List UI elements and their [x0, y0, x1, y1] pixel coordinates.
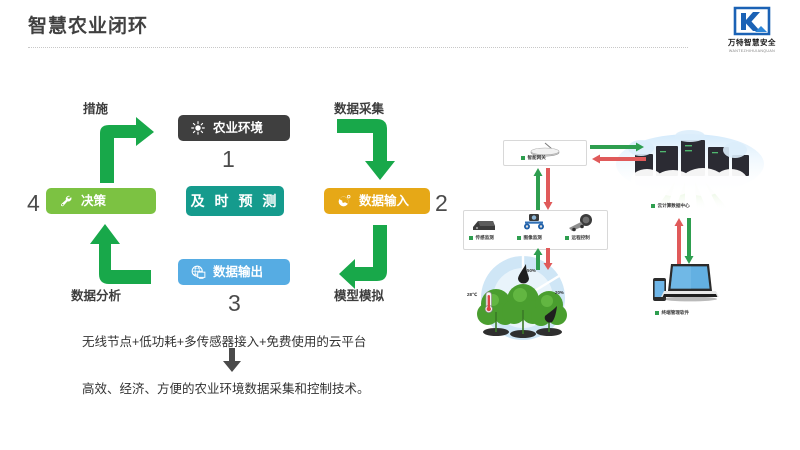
reading-light: 20% [555, 290, 564, 295]
node-timely-forecast[interactable]: 及 时 预 测 [186, 186, 284, 216]
step-number-4: 4 [27, 192, 40, 215]
label-terminal-software: 终端管理软件 [655, 310, 689, 316]
step-number-1: 1 [222, 148, 235, 171]
node-label: 决策 [81, 195, 106, 208]
terminal-devices-icon [651, 260, 721, 304]
step-number-3: 3 [228, 292, 241, 315]
page-title: 智慧农业闭环 [28, 11, 148, 38]
remote-control-device-icon [567, 213, 597, 232]
node-label: 农业环境 [213, 122, 263, 135]
label-smart-gateway: 智能网关 [521, 155, 546, 161]
statement-line-2: 高效、经济、方便的农业环境数据采集和控制技术。 [82, 378, 370, 397]
sun-icon [190, 120, 206, 136]
cycle-arrow-right-down-icon [337, 115, 399, 183]
node-label: 及 时 预 测 [191, 194, 280, 208]
satellite-dish-icon [336, 193, 352, 209]
node-label: 数据输入 [359, 195, 409, 208]
flow-cloud-terminal-arrows [674, 218, 696, 264]
crop-field-icon [463, 252, 583, 340]
label-cloud-data-center: 云计算数据中心 [651, 203, 690, 209]
node-label: 数据输出 [213, 266, 263, 279]
logo-pinyin: WANTEZHIHUIANQUAN [716, 49, 788, 53]
wante-k-logo-icon [732, 6, 772, 36]
sensor-device-icon [471, 216, 497, 232]
cycle-arrow-down-left-icon [337, 225, 399, 293]
globe-monitor-icon [190, 264, 206, 280]
image-monitoring-icon [521, 213, 547, 232]
title-divider [28, 47, 688, 48]
flow-field-device-arrows [533, 248, 555, 270]
cycle-arrow-up-right-icon [96, 115, 158, 183]
label-sensor-monitoring: 传感监测 [469, 235, 494, 241]
node-decision[interactable]: 决策 [46, 188, 156, 214]
bullet-square-icon [469, 236, 473, 240]
wrench-icon [58, 193, 74, 209]
flow-gateway-cloud-arrows [590, 142, 646, 168]
node-agriculture-environment[interactable]: 农业环境 [178, 115, 290, 141]
bullet-square-icon [651, 204, 655, 208]
bullet-square-icon [565, 236, 569, 240]
label-remote-control: 远程控制 [565, 235, 590, 241]
iot-architecture-illustration: 云计算数据中心 智能网关 传感监测 图像监测 [455, 120, 795, 345]
label-image-monitoring: 图像监测 [517, 235, 542, 241]
cycle-arrow-left-up-icon [85, 222, 155, 288]
bullet-square-icon [655, 311, 659, 315]
brand-logo: 万特智慧安全 WANTEZHIHUIANQUAN [716, 6, 788, 53]
reading-temperature: 28℃ [467, 292, 477, 298]
bullet-square-icon [521, 156, 525, 160]
node-data-input[interactable]: 数据输入 [324, 188, 430, 214]
down-arrow-icon [222, 348, 242, 372]
bullet-square-icon [517, 236, 521, 240]
node-data-output[interactable]: 数据输出 [178, 259, 290, 285]
logo-name: 万特智慧安全 [716, 37, 788, 48]
step-number-2: 2 [435, 192, 448, 215]
flow-device-gateway-arrows [533, 168, 555, 210]
